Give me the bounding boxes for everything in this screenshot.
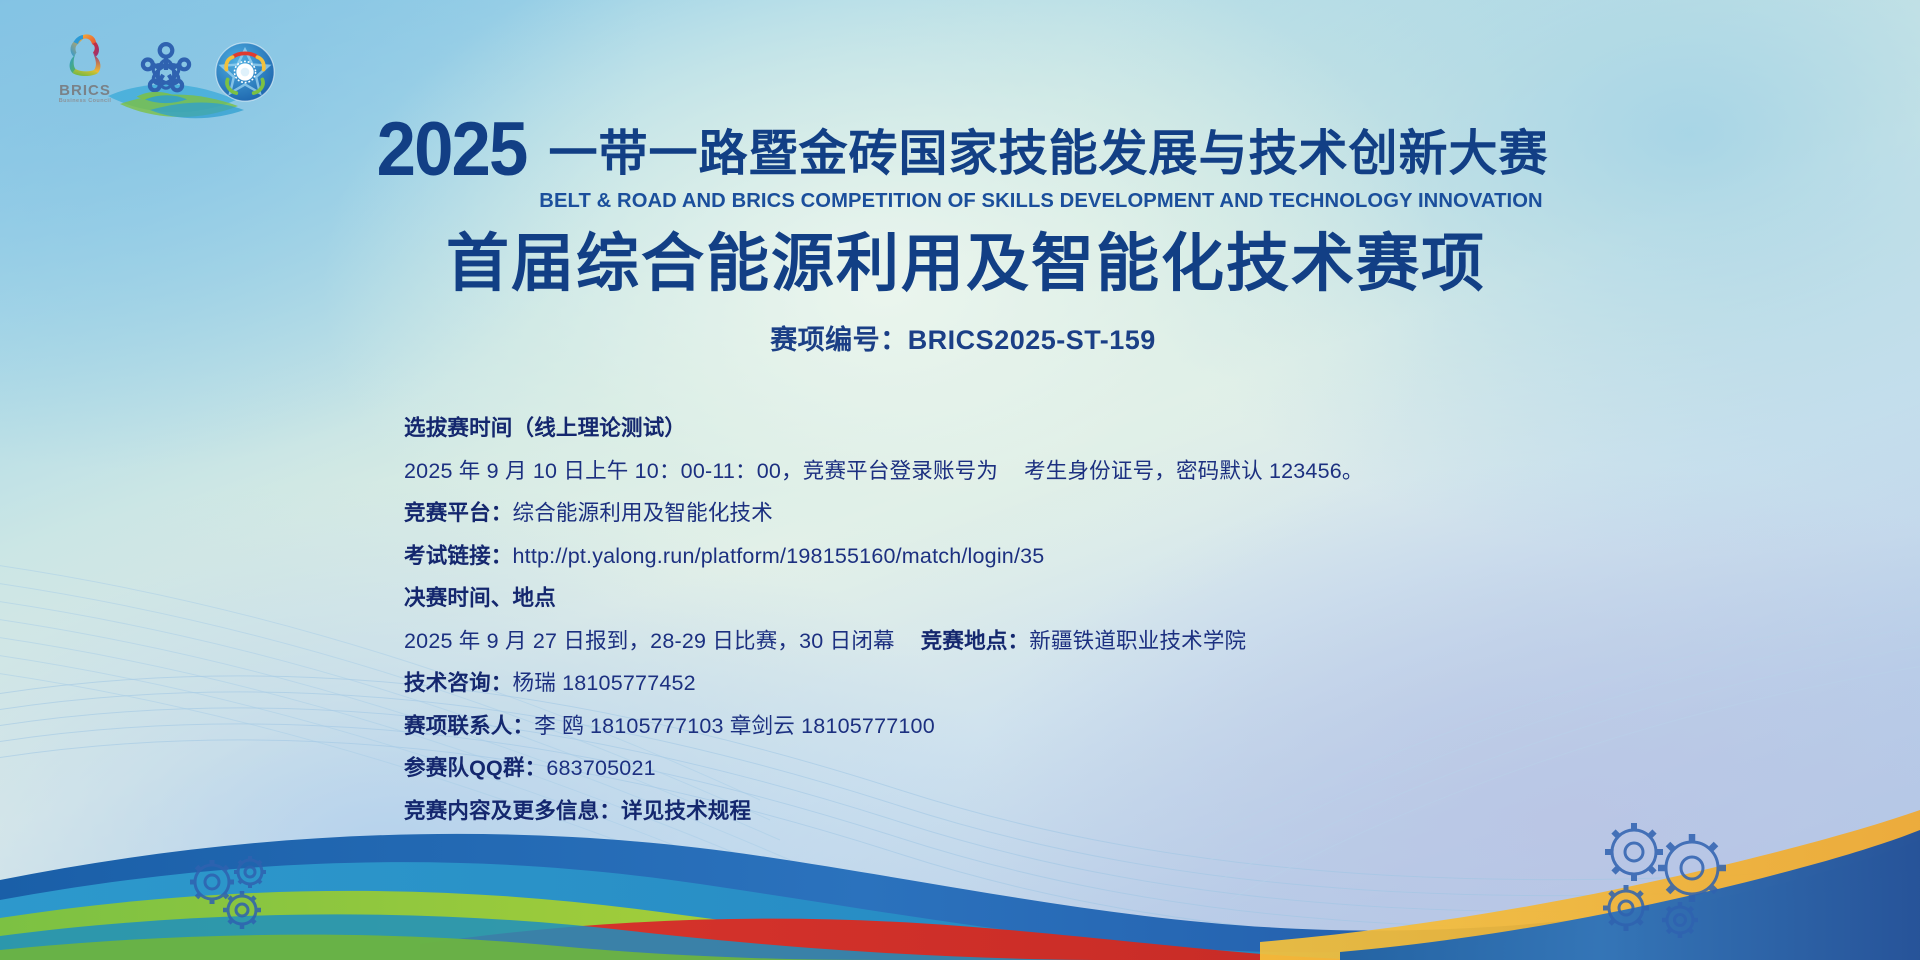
banner-root: BRICS Business Council bbox=[0, 0, 1920, 960]
tech-support-value: 杨瑞 18105777452 bbox=[513, 671, 696, 695]
exam-link-label: 考试链接： bbox=[404, 544, 513, 568]
selection-heading: 选拔赛时间（线上理论测试） bbox=[404, 416, 686, 440]
more-label: 竞赛内容及更多信息： bbox=[404, 799, 621, 823]
code-value: BRICS2025-ST-159 bbox=[908, 325, 1156, 355]
info-line-more: 竞赛内容及更多信息：详见技术规程 bbox=[404, 801, 1364, 823]
qq-label: 参赛队QQ群： bbox=[404, 756, 546, 780]
code-label: 赛项编号： bbox=[770, 325, 908, 355]
gear-cluster-right bbox=[1588, 816, 1768, 951]
info-line-selection-detail: 2025 年 9 月 10 日上午 10：00-11：00，竞赛平台登录账号为考… bbox=[404, 461, 1364, 483]
competition-emblem-icon bbox=[214, 41, 276, 103]
selection-detail-tail: 考生身份证号，密码默认 123456。 bbox=[1024, 459, 1364, 483]
competition-code: 赛项编号：BRICS2025-ST-159 bbox=[6, 318, 1920, 357]
selection-detail: 2025 年 9 月 10 日上午 10：00-11：00，竞赛平台登录账号为 bbox=[404, 459, 998, 483]
year-label: 2025 bbox=[377, 118, 527, 182]
info-line-final-heading: 决赛时间、地点 bbox=[404, 588, 1364, 610]
platform-value: 综合能源利用及智能化技术 bbox=[513, 501, 773, 525]
brics-business-council-logo: BRICS Business Council bbox=[52, 34, 118, 105]
header-block: 2025 一带一路暨金砖国家技能发展与技术创新大赛 BELT & ROAD AN… bbox=[0, 118, 1920, 357]
title-en: BELT & ROAD AND BRICS COMPETITION OF SKI… bbox=[175, 189, 1907, 213]
qq-value: 683705021 bbox=[546, 756, 655, 780]
venue-label: 竞赛地点： bbox=[921, 629, 1030, 653]
more-value: 详见技术规程 bbox=[621, 799, 751, 823]
info-line-qq: 参赛队QQ群：683705021 bbox=[404, 758, 1364, 780]
title-cn: 一带一路暨金砖国家技能发展与技术创新大赛 bbox=[549, 130, 1549, 182]
info-line-platform: 竞赛平台：综合能源利用及智能化技术 bbox=[404, 503, 1364, 525]
info-line-selection-heading: 选拔赛时间（线上理论测试） bbox=[404, 418, 1364, 440]
brics-star-icon bbox=[59, 34, 111, 80]
brics-wordmark: BRICS bbox=[52, 83, 118, 98]
info-line-final-detail: 2025 年 9 月 27 日报到，28-29 日比赛，30 日闭幕竞赛地点：新… bbox=[404, 631, 1364, 653]
tech-support-label: 技术咨询： bbox=[404, 671, 513, 695]
final-heading: 决赛时间、地点 bbox=[404, 586, 556, 610]
info-block: 选拔赛时间（线上理论测试） 2025 年 9 月 10 日上午 10：00-11… bbox=[404, 418, 1364, 822]
belt-road-emblem-icon bbox=[130, 35, 202, 105]
logo-row: BRICS Business Council bbox=[52, 34, 276, 105]
gear-cluster-left bbox=[178, 848, 318, 943]
final-detail: 2025 年 9 月 27 日报到，28-29 日比赛，30 日闭幕 bbox=[404, 629, 895, 653]
contacts-label: 赛项联系人： bbox=[404, 714, 534, 738]
brics-sub-wordmark: Business Council bbox=[52, 99, 118, 105]
contacts-value: 李 鸥 18105777103 章剑云 18105777100 bbox=[534, 714, 935, 738]
subtitle-cn: 首届综合能源利用及智能化技术赛项 bbox=[12, 230, 1920, 298]
info-line-tech-support: 技术咨询：杨瑞 18105777452 bbox=[404, 673, 1364, 695]
platform-label: 竞赛平台： bbox=[404, 501, 513, 525]
info-line-contacts: 赛项联系人：李 鸥 18105777103 章剑云 18105777100 bbox=[404, 716, 1364, 738]
venue-value: 新疆铁道职业技术学院 bbox=[1029, 629, 1246, 653]
exam-link-value[interactable]: http://pt.yalong.run/platform/198155160/… bbox=[513, 544, 1045, 568]
title-row: 2025 一带一路暨金砖国家技能发展与技术创新大赛 bbox=[0, 118, 1920, 182]
info-line-exam-link: 考试链接：http://pt.yalong.run/platform/19815… bbox=[404, 546, 1364, 568]
